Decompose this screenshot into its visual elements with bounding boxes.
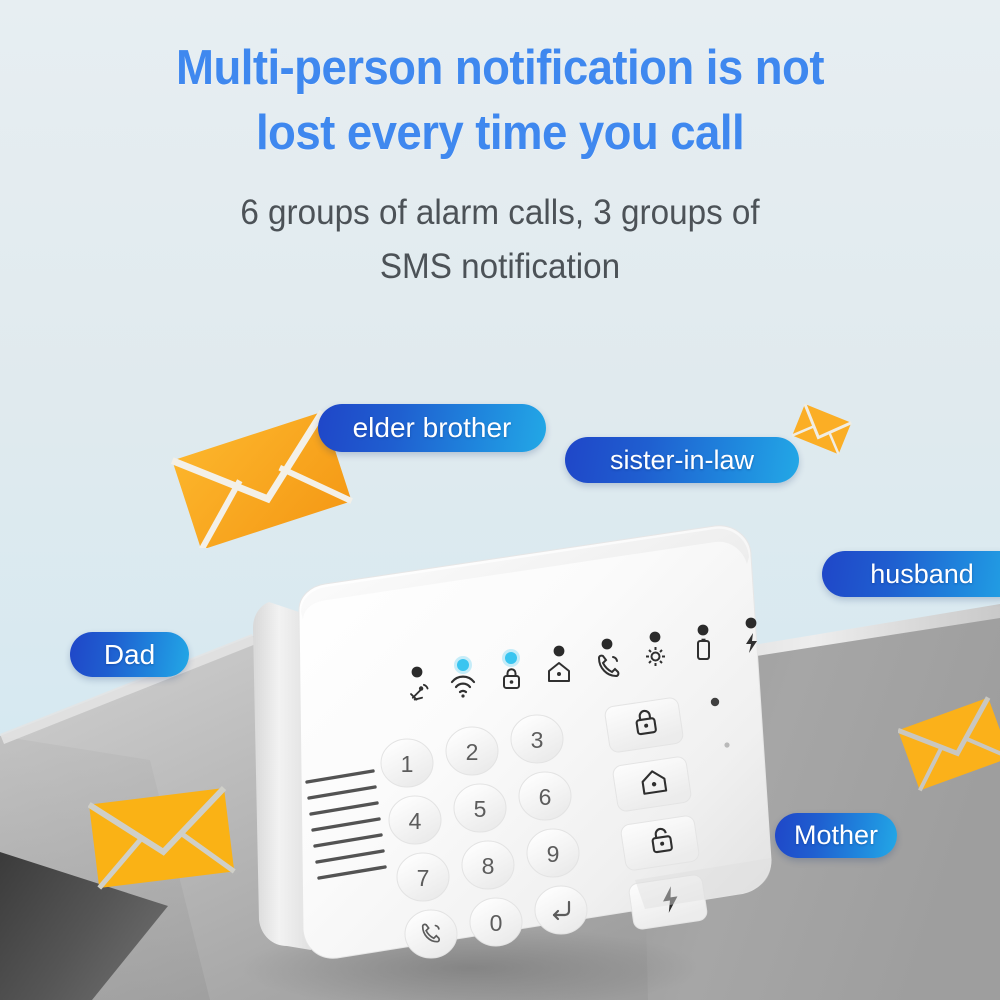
envelope-right: [898, 688, 1000, 800]
key-5[interactable]: 5: [454, 784, 506, 832]
led-call: [602, 639, 613, 650]
led-settings: [650, 632, 661, 643]
key-6[interactable]: 6: [519, 772, 571, 820]
envelope-bottom-left: [88, 782, 236, 900]
contact-pill-husband[interactable]: husband: [822, 551, 1000, 597]
key-8-label: 8: [482, 853, 495, 879]
key-6-label: 6: [539, 784, 552, 810]
contact-pill-dad[interactable]: Dad: [70, 632, 189, 677]
wireless-alarm-panel[interactable]: 1 2 3 4 5: [215, 480, 795, 990]
envelope-top-right: [790, 400, 852, 462]
led-battery: [698, 625, 709, 636]
key-2-label: 2: [466, 739, 479, 765]
key-9-label: 9: [547, 841, 560, 867]
key-0[interactable]: 0: [470, 898, 522, 946]
key-4[interactable]: 4: [389, 796, 441, 844]
page-subheadline: 6 groups of alarm calls, 3 groups of SMS…: [25, 186, 975, 295]
key-3-label: 3: [531, 727, 544, 753]
key-3[interactable]: 3: [511, 715, 563, 763]
key-call[interactable]: [405, 910, 457, 958]
key-enter[interactable]: [535, 886, 587, 934]
screw-hole: [724, 742, 729, 747]
led-cellular: [412, 667, 423, 678]
key-7-label: 7: [417, 865, 430, 891]
led-home-arm: [554, 646, 565, 657]
key-8[interactable]: 8: [462, 841, 514, 889]
page-headline: Multi-person notification is not lost ev…: [35, 36, 965, 166]
key-5-label: 5: [474, 796, 487, 822]
tamper-hole: [711, 698, 719, 706]
key-9[interactable]: 9: [527, 829, 579, 877]
promo-banner: 1 2 3 4 5: [0, 0, 1000, 1000]
key-2[interactable]: 2: [446, 727, 498, 775]
contact-pill-elder-brother[interactable]: elder brother: [318, 404, 546, 452]
contact-pill-mother[interactable]: Mother: [775, 813, 897, 858]
contact-pill-sister-in-law[interactable]: sister-in-law: [565, 437, 799, 483]
key-4-label: 4: [409, 808, 422, 834]
key-7[interactable]: 7: [397, 853, 449, 901]
key-1[interactable]: 1: [381, 739, 433, 787]
key-1-label: 1: [401, 751, 414, 777]
key-0-label: 0: [490, 910, 503, 936]
led-power: [746, 618, 757, 629]
